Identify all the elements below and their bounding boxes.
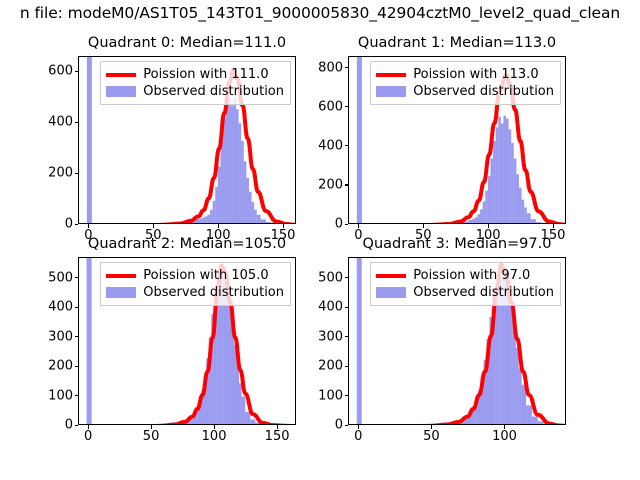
legend-label-observed: Observed distribution [143, 285, 284, 300]
ytick-label-quadrant-2-0: 0 [65, 418, 78, 433]
xtick-label-quadrant-2-1: 50 [143, 425, 160, 444]
histogram-observed-quadrant-0 [167, 98, 286, 224]
legend-entry-observed-quadrant-3: Observed distribution [376, 284, 554, 301]
subplot-quadrant-2: Quadrant 2: Median=105.0 Poission with 1… [78, 257, 296, 425]
ytick-label-quadrant-3-5: 500 [318, 270, 348, 285]
legend-patch-swatch-icon [376, 86, 406, 97]
ytick-label-quadrant-2-3: 300 [48, 329, 78, 344]
zero-count-spike-quadrant-0 [87, 57, 92, 224]
xtick-label-quadrant-3-1: 50 [423, 425, 440, 444]
ytick-label-quadrant-0-3: 600 [48, 64, 78, 79]
legend-entry-poisson-quadrant-1: Poission with 113.0 [376, 66, 554, 83]
ytick-label-quadrant-1-3: 600 [318, 99, 348, 114]
zero-count-spike-quadrant-1 [357, 57, 362, 224]
legend-entry-observed-quadrant-1: Observed distribution [376, 83, 554, 100]
zero-count-spike-quadrant-2 [87, 258, 92, 425]
subplot-quadrant-3: Quadrant 3: Median=97.0 Poission with 97… [348, 257, 566, 425]
ytick-label-quadrant-3-1: 100 [318, 388, 348, 403]
legend-entry-observed-quadrant-2: Observed distribution [106, 284, 284, 301]
legend-line-swatch-icon [376, 274, 406, 278]
legend-label-observed: Observed distribution [413, 84, 554, 99]
legend-patch-swatch-icon [376, 287, 406, 298]
legend-label-poisson: Poission with 113.0 [413, 67, 538, 82]
legend-patch-swatch-icon [106, 287, 136, 298]
legend-label-observed: Observed distribution [143, 84, 284, 99]
legend-entry-observed-quadrant-0: Observed distribution [106, 83, 284, 100]
xtick-label-quadrant-2-3: 150 [265, 425, 290, 444]
legend-entry-poisson-quadrant-2: Poission with 105.0 [106, 267, 284, 284]
zero-count-spike-quadrant-3 [357, 258, 362, 425]
ytick-label-quadrant-1-4: 800 [318, 60, 348, 75]
axes-frame-quadrant-1: Poission with 113.0Observed distribution [348, 56, 566, 224]
subplot-title-quadrant-3: Quadrant 3: Median=97.0 [363, 236, 552, 252]
subplot-title-quadrant-2: Quadrant 2: Median=105.0 [88, 236, 286, 252]
ytick-label-quadrant-2-5: 500 [48, 270, 78, 285]
legend-quadrant-3[interactable]: Poission with 97.0Observed distribution [370, 262, 561, 306]
legend-entry-poisson-quadrant-0: Poission with 111.0 [106, 66, 284, 83]
figure-suptitle: n file: modeM0/AS1T05_143T01_9000005830_… [20, 4, 620, 22]
subplot-quadrant-0: Quadrant 0: Median=111.0 Poission with 1… [78, 56, 296, 224]
xtick-label-quadrant-2-2: 100 [202, 425, 227, 444]
ytick-label-quadrant-3-3: 300 [318, 329, 348, 344]
ytick-label-quadrant-3-0: 0 [335, 418, 348, 433]
legend-label-observed: Observed distribution [413, 285, 554, 300]
ytick-label-quadrant-1-0: 0 [335, 217, 348, 232]
xtick-label-quadrant-3-2: 100 [492, 425, 517, 444]
legend-label-poisson: Poission with 105.0 [143, 268, 268, 283]
ytick-label-quadrant-3-2: 200 [318, 359, 348, 374]
axes-frame-quadrant-3: Poission with 97.0Observed distribution [348, 257, 566, 425]
legend-quadrant-2[interactable]: Poission with 105.0Observed distribution [100, 262, 291, 306]
legend-line-swatch-icon [106, 73, 136, 77]
histogram-observed-quadrant-1 [442, 116, 556, 224]
legend-line-swatch-icon [106, 274, 136, 278]
legend-quadrant-1[interactable]: Poission with 113.0Observed distribution [370, 61, 561, 105]
ytick-label-quadrant-1-2: 400 [318, 138, 348, 153]
legend-line-swatch-icon [376, 73, 406, 77]
subplot-title-quadrant-1: Quadrant 1: Median=113.0 [358, 35, 556, 51]
figure-canvas: n file: modeM0/AS1T05_143T01_9000005830_… [0, 0, 640, 480]
ytick-label-quadrant-2-4: 400 [48, 300, 78, 315]
subplot-quadrant-1: Quadrant 1: Median=113.0 Poission with 1… [348, 56, 566, 224]
xtick-label-quadrant-2-0: 0 [84, 425, 92, 444]
ytick-label-quadrant-0-0: 0 [65, 217, 78, 232]
axes-frame-quadrant-0: Poission with 111.0Observed distribution [78, 56, 296, 224]
legend-entry-poisson-quadrant-3: Poission with 97.0 [376, 267, 554, 284]
xtick-label-quadrant-1-0: 0 [354, 224, 362, 243]
legend-patch-swatch-icon [106, 86, 136, 97]
legend-label-poisson: Poission with 97.0 [413, 268, 530, 283]
axes-frame-quadrant-2: Poission with 105.0Observed distribution [78, 257, 296, 425]
xtick-label-quadrant-3-0: 0 [354, 425, 362, 444]
legend-quadrant-0[interactable]: Poission with 111.0Observed distribution [100, 61, 291, 105]
ytick-label-quadrant-0-1: 200 [48, 166, 78, 181]
ytick-label-quadrant-1-1: 200 [318, 177, 348, 192]
subplot-title-quadrant-0: Quadrant 0: Median=111.0 [88, 35, 286, 51]
ytick-label-quadrant-2-2: 200 [48, 359, 78, 374]
legend-label-poisson: Poission with 111.0 [143, 67, 268, 82]
ytick-label-quadrant-3-4: 400 [318, 300, 348, 315]
ytick-label-quadrant-0-2: 400 [48, 115, 78, 130]
ytick-label-quadrant-2-1: 100 [48, 388, 78, 403]
